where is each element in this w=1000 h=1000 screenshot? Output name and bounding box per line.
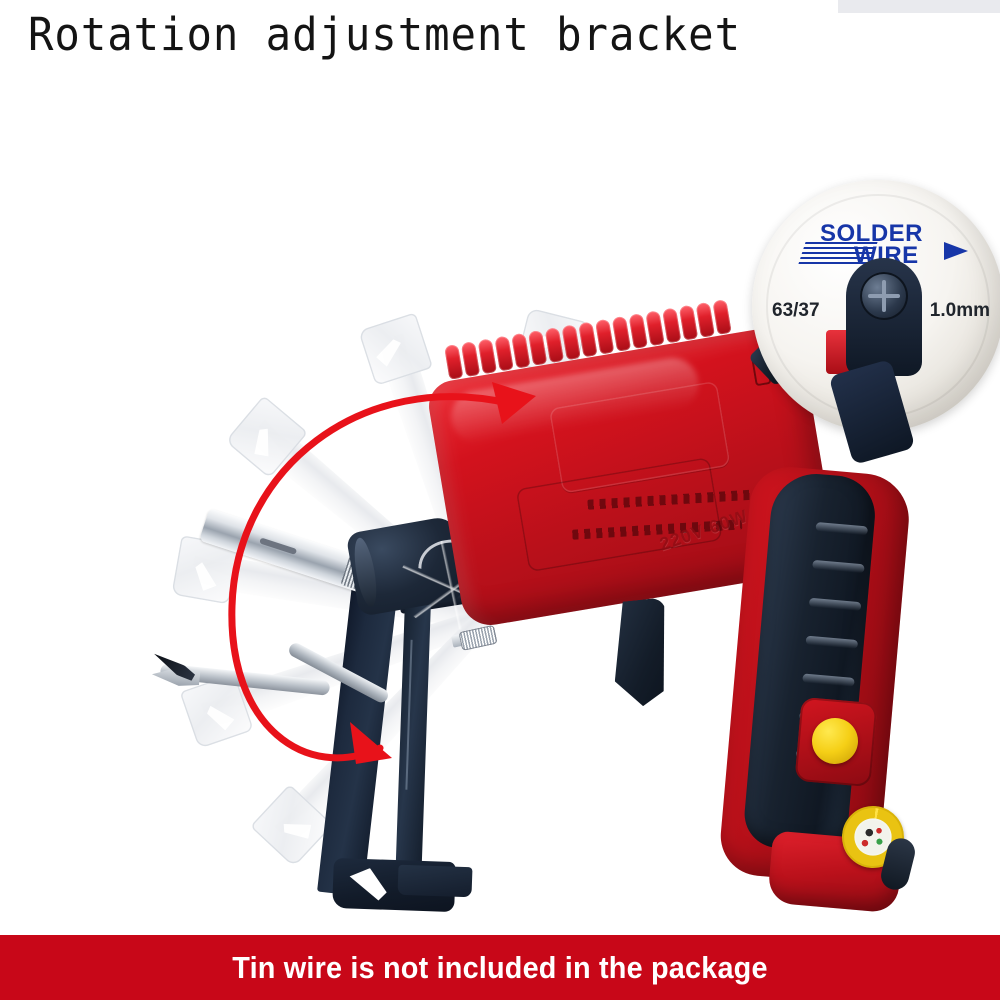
disclaimer-text: Tin wire is not included in the package xyxy=(35,935,965,1000)
rotation-arrow xyxy=(0,0,1000,1000)
disclaimer-banner: Tin wire is not included in the package xyxy=(0,935,1000,1000)
product-image-canvas: Rotation adjustment bracket xyxy=(0,0,1000,1000)
